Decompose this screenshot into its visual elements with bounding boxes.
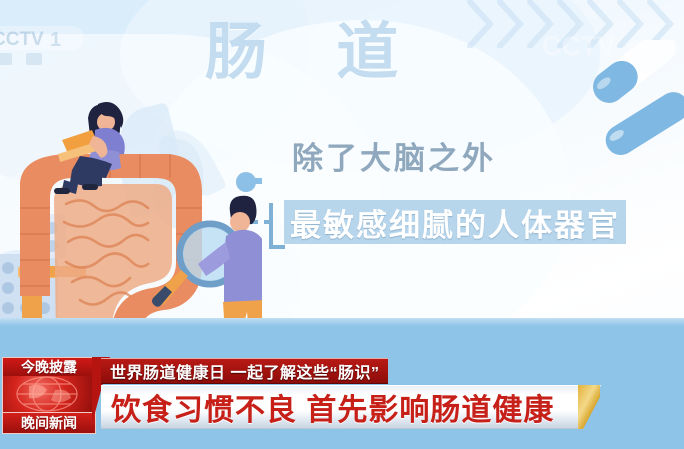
cctv1-channel-logo-icon: CCTV 1 [0, 22, 94, 68]
connector-bracket [269, 203, 285, 249]
woman-with-laptop-icon [54, 102, 125, 194]
intestine-illustration [0, 96, 262, 346]
graphic-subtitle: 除了大脑之外 [292, 143, 496, 174]
broadcast-screenshot: CCTV 1 CCTV .com 肠 道 除了大脑之外 最敏感细腻的人体器官 [0, 0, 684, 449]
headline-bar: 饮食习惯不良 首先影响肠道健康 [101, 385, 584, 429]
svg-text:CCTV: CCTV [0, 29, 44, 50]
globe-graphic [3, 376, 96, 412]
capsule-pills-icon [558, 40, 684, 160]
kicker-text: 世界肠道健康日 一起了解这些“肠识” [110, 359, 379, 383]
badge-top-bar: 今晚披露 [2, 357, 96, 377]
globe-icon [2, 376, 96, 412]
badge-bottom-label: 晚间新闻 [3, 413, 95, 434]
svg-text:1: 1 [50, 29, 61, 51]
badge-top-label: 今晚披露 [3, 358, 95, 377]
graphic-highlight-box: 最敏感细腻的人体器官 [284, 200, 626, 244]
graphic-title: 肠 道 [205, 22, 424, 84]
band-sheen [0, 318, 684, 326]
graphic-highlight-text: 最敏感细腻的人体器官 [290, 200, 620, 245]
pin-dot-icon [236, 172, 262, 192]
program-badge: 今晚披露 晚间新闻 [2, 357, 96, 434]
headline-bar-gold-edge [578, 385, 600, 429]
headline-text: 饮食习惯不良 首先影响肠道健康 [101, 385, 554, 429]
lower-third: 今晚披露 晚间新闻 世界肠道健康日 一起了解这些“肠识” [0, 357, 684, 434]
badge-bottom-bar: 晚间新闻 [2, 412, 96, 434]
kicker-bar: 世界肠道健康日 一起了解这些“肠识” [101, 358, 388, 384]
